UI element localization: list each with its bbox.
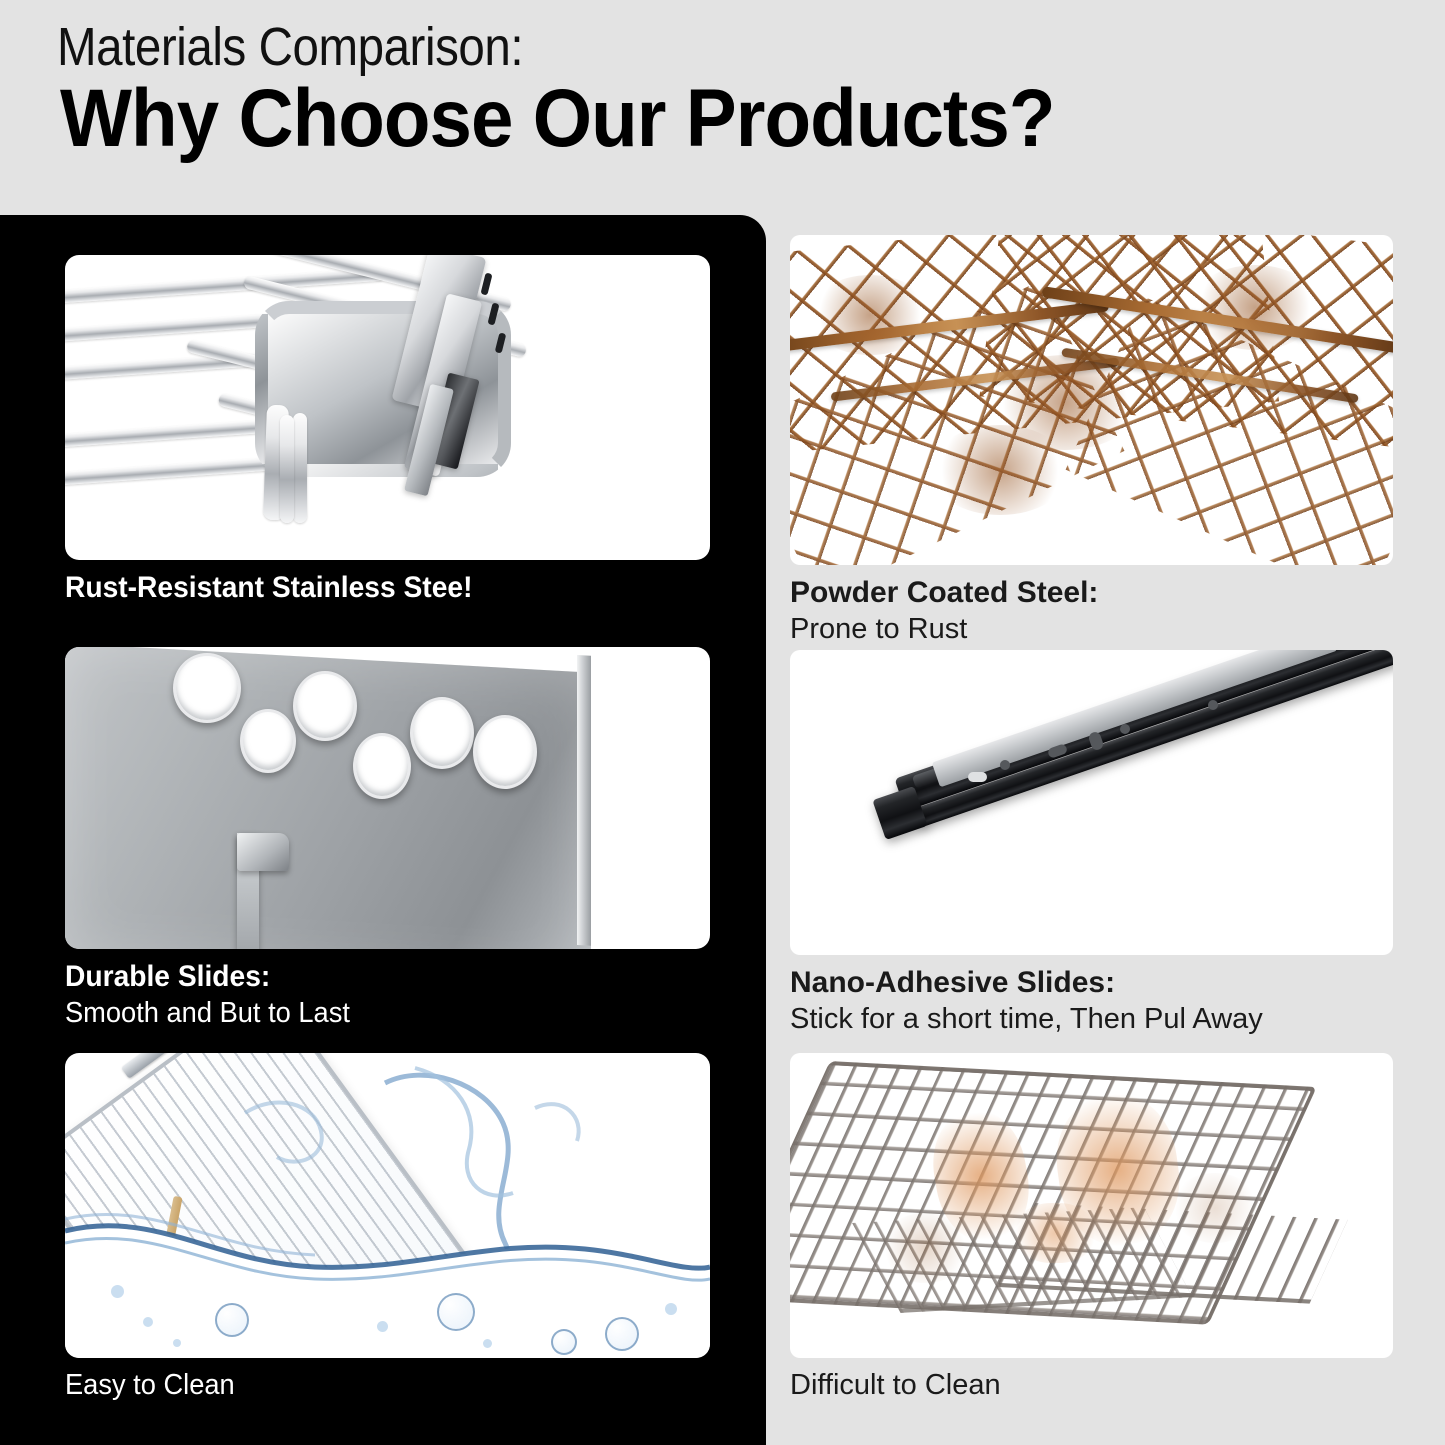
comparison-cell-easy-to-clean: Easy to Clean xyxy=(65,1053,710,1403)
our-products-column: Rust-Resistant Stainless Stee! xyxy=(65,215,710,1445)
nano-adhesive-title: Nano-Adhesive Slides: xyxy=(790,965,1393,1002)
durable-slides-subtitle: Smooth and But to Last xyxy=(65,996,671,1031)
dirty-stained-wire-basket-photo xyxy=(790,1053,1393,1358)
durable-slides-caption: Durable Slides: Smooth and But to Last xyxy=(65,959,710,1031)
comparison-cell-difficult-to-clean: Difficult to Clean xyxy=(790,1053,1393,1403)
rusted-wire-mesh-basket-photo xyxy=(790,235,1393,565)
page-title: Why Choose Our Products? xyxy=(60,72,1055,166)
nano-adhesive-subtitle: Stick for a short time, Then Pul Away xyxy=(790,1002,1393,1037)
header: Materials Comparison: Why Choose Our Pro… xyxy=(0,0,1445,215)
rusted-wire-mesh-basket-card xyxy=(790,235,1393,565)
durable-slides-title: Durable Slides: xyxy=(65,959,671,996)
header-eyebrow: Materials Comparison: xyxy=(57,16,523,78)
rack-water-splash-card xyxy=(65,1053,710,1358)
stainless-steel-caption: Rust-Resistant Stainless Stee! xyxy=(65,570,710,607)
rack-water-splash-photo xyxy=(65,1053,710,1358)
materials-comparison-infographic: Materials Comparison: Why Choose Our Pro… xyxy=(0,0,1445,1445)
nano-adhesive-caption: Nano-Adhesive Slides: Stick for a short … xyxy=(790,965,1393,1037)
stainless-steel-rack-photo xyxy=(65,255,710,560)
comparison-cell-stainless-steel: Rust-Resistant Stainless Stee! xyxy=(65,255,710,607)
difficult-to-clean-title: Difficult to Clean xyxy=(790,1368,1393,1403)
comparison-cell-powder-coated: Powder Coated Steel: Prone to Rust xyxy=(790,235,1393,647)
black-drawer-slide-rail-photo xyxy=(790,650,1393,955)
stainless-steel-rack-card xyxy=(65,255,710,560)
metal-slide-plate-photo xyxy=(65,647,710,949)
easy-to-clean-caption: Easy to Clean xyxy=(65,1368,710,1403)
easy-to-clean-title: Easy to Clean xyxy=(65,1368,671,1403)
black-drawer-slide-rail-card xyxy=(790,650,1393,955)
powder-coated-title: Powder Coated Steel: xyxy=(790,575,1393,612)
dirty-stained-wire-basket-card xyxy=(790,1053,1393,1358)
powder-coated-caption: Powder Coated Steel: Prone to Rust xyxy=(790,575,1393,647)
metal-slide-plate-card xyxy=(65,647,710,949)
comparison-cell-nano-adhesive: Nano-Adhesive Slides: Stick for a short … xyxy=(790,650,1393,1037)
comparison-cell-durable-slides: Durable Slides: Smooth and But to Last xyxy=(65,647,710,1031)
difficult-to-clean-caption: Difficult to Clean xyxy=(790,1368,1393,1403)
other-products-column: Powder Coated Steel: Prone to Rust xyxy=(790,215,1393,1445)
water-splash-vector xyxy=(65,1053,710,1358)
stainless-steel-title: Rust-Resistant Stainless Stee! xyxy=(65,570,671,607)
powder-coated-subtitle: Prone to Rust xyxy=(790,612,1393,647)
